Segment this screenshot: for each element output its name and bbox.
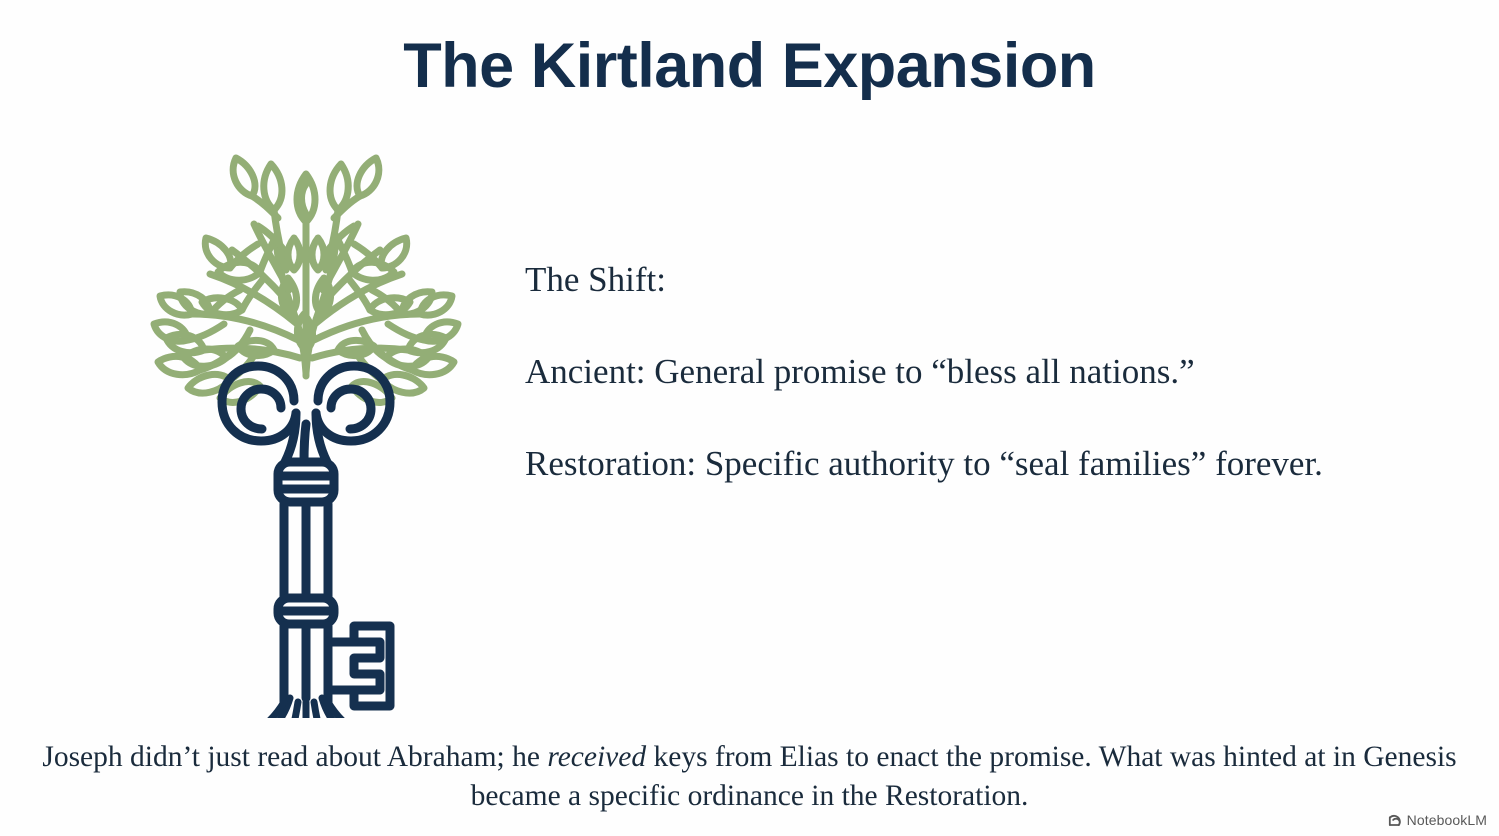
key-shaft xyxy=(284,504,328,598)
caption-line1-part2: keys from Elias to enact the promise. xyxy=(646,741,1092,773)
body-paragraph-restoration: Restoration: Specific authority to “seal… xyxy=(525,442,1425,487)
leafy-canopy xyxy=(154,158,458,402)
caption-line1-part1: Joseph didn’t just read about Abraham; h… xyxy=(42,741,547,773)
slide-caption: Joseph didn’t just read about Abraham; h… xyxy=(40,738,1459,816)
caption-emphasis: received xyxy=(547,741,646,773)
notebooklm-watermark: NotebookLM xyxy=(1387,812,1487,828)
body-copy: The Shift: Ancient: General promise to “… xyxy=(525,258,1425,486)
notebooklm-label: NotebookLM xyxy=(1407,812,1487,828)
key-bit xyxy=(328,626,390,706)
page-title: The Kirtland Expansion xyxy=(0,33,1499,99)
key-collar xyxy=(278,462,334,502)
root-system xyxy=(176,698,436,718)
body-paragraph-ancient: Ancient: General promise to “bless all n… xyxy=(525,350,1425,395)
tree-key-illustration xyxy=(118,118,494,718)
notebooklm-spiral-icon xyxy=(1387,813,1402,828)
key-lower-shaft xyxy=(284,626,328,702)
navy-key xyxy=(222,366,390,706)
slide-canvas: The Kirtland Expansion xyxy=(0,0,1499,836)
body-paragraph-shift: The Shift: xyxy=(525,258,1425,303)
key-mid-band xyxy=(278,598,334,624)
